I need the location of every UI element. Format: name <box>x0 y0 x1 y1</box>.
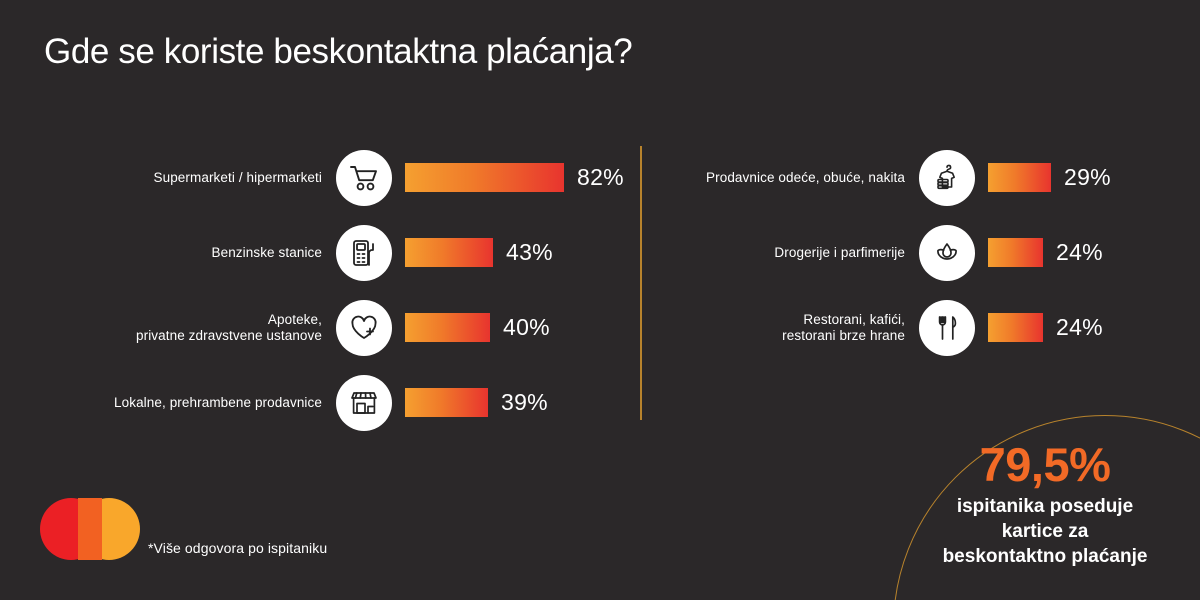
bar-fill <box>988 163 1051 192</box>
bar-row: Prodavnice odeće, obuće, nakita 29% <box>640 140 1200 215</box>
bar-wrap: 43% <box>405 238 553 267</box>
row-label: Benzinske stanice <box>32 245 322 261</box>
right-column: Prodavnice odeće, obuće, nakita 29% Drog… <box>640 140 1200 365</box>
bar-value: 43% <box>506 239 553 266</box>
bar-value: 39% <box>501 389 548 416</box>
row-label: Restorani, kafići, restorani brze hrane <box>655 312 905 344</box>
bar-row: Restorani, kafići, restorani brze hrane … <box>640 290 1200 365</box>
row-label: Apoteke, privatne zdravstvene ustanove <box>32 312 322 344</box>
bar-wrap: 82% <box>405 163 624 192</box>
row-label: Supermarketi / hipermarketi <box>32 170 322 186</box>
bar-wrap: 39% <box>405 388 548 417</box>
row-label: Prodavnice odeće, obuće, nakita <box>655 170 905 186</box>
bar-row: Drogerije i parfimerije 24% <box>640 215 1200 290</box>
bar-row: Supermarketi / hipermarketi 82% <box>0 140 640 215</box>
bar-wrap: 40% <box>405 313 550 342</box>
footnote: *Više odgovora po ispitaniku <box>148 540 327 556</box>
callout-description: ispitanika poseduje kartice za beskontak… <box>905 494 1185 569</box>
storefront-icon <box>336 375 392 431</box>
infographic-root: Gde se koriste beskontaktna plaćanja? Su… <box>0 0 1200 600</box>
row-label: Lokalne, prehrambene prodavnice <box>32 395 322 411</box>
bar-fill <box>405 388 488 417</box>
callout-percent: 79,5% <box>905 438 1185 492</box>
bar-fill <box>405 163 564 192</box>
heart-plus-icon <box>336 300 392 356</box>
bar-wrap: 24% <box>988 238 1103 267</box>
fuel-pump-icon <box>336 225 392 281</box>
bar-value: 24% <box>1056 314 1103 341</box>
bar-fill <box>405 238 493 267</box>
mastercard-logo <box>40 498 140 560</box>
bar-value: 29% <box>1064 164 1111 191</box>
bar-row: Lokalne, prehrambene prodavnice 39% <box>0 365 640 440</box>
bar-wrap: 29% <box>988 163 1111 192</box>
bar-fill <box>988 238 1043 267</box>
shopping-cart-icon <box>336 150 392 206</box>
fork-knife-icon <box>919 300 975 356</box>
row-label: Drogerije i parfimerije <box>655 245 905 261</box>
bar-row: Benzinske stanice 43% <box>0 215 640 290</box>
bar-wrap: 24% <box>988 313 1103 342</box>
bar-value: 24% <box>1056 239 1103 266</box>
bar-row: Apoteke, privatne zdravstvene ustanove 4… <box>0 290 640 365</box>
bar-value: 82% <box>577 164 624 191</box>
bar-value: 40% <box>503 314 550 341</box>
page-title: Gde se koriste beskontaktna plaćanja? <box>44 32 632 72</box>
lotus-drop-icon <box>919 225 975 281</box>
clothing-icon <box>919 150 975 206</box>
bar-fill <box>405 313 490 342</box>
logo-circle-overlap <box>78 498 102 560</box>
bar-fill <box>988 313 1043 342</box>
left-column: Supermarketi / hipermarketi 82% Benzinsk… <box>0 140 640 440</box>
callout-stat: 79,5% ispitanika poseduje kartice za bes… <box>905 438 1185 569</box>
